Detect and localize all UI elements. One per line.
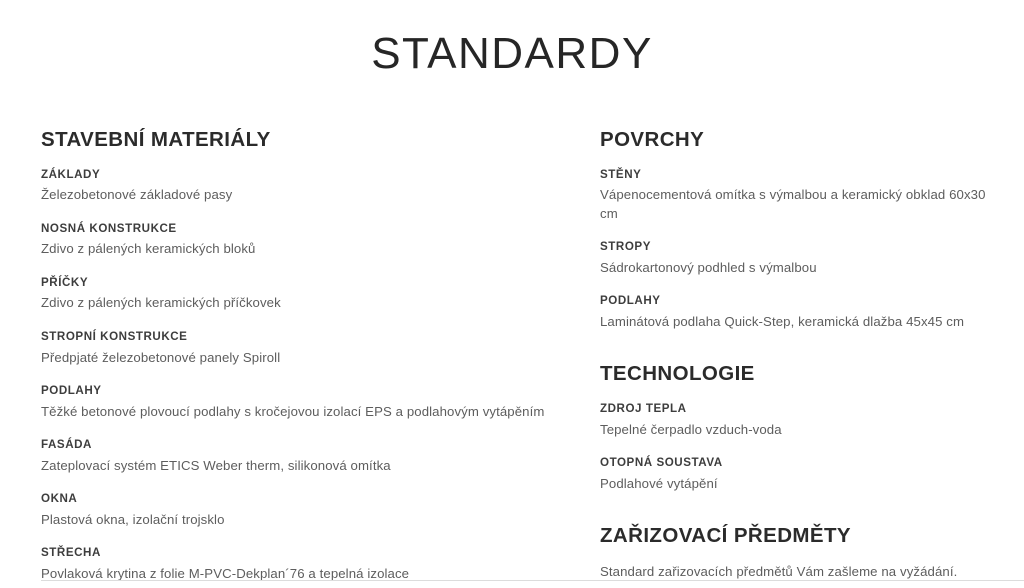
section-title: STAVEBNÍ MATERIÁLY	[41, 128, 546, 153]
entry-podlahy: PODLAHY Těžké betonové plovoucí podlahy …	[41, 383, 546, 421]
entry-text: Zdivo z pálených keramických příčkovek	[41, 294, 546, 312]
section-title: ZAŘIZOVACÍ PŘEDMĚTY	[600, 524, 1004, 549]
standards-page: STANDARDY STAVEBNÍ MATERIÁLY ZÁKLADY Žel…	[0, 0, 1024, 588]
right-column: POVRCHY STĚNY Vápenocementová omítka s v…	[556, 128, 1024, 581]
entry-text: Zateplovací systém ETICS Weber therm, si…	[41, 457, 546, 475]
section-technologie: TECHNOLOGIE ZDROJ TEPLA Tepelné čerpadlo…	[600, 362, 1004, 493]
entry-label: STROPNÍ KONSTRUKCE	[41, 329, 546, 345]
entry-strecha: STŘECHA Povlaková krytina z folie M-PVC-…	[41, 545, 546, 583]
entry-label: NOSNÁ KONSTRUKCE	[41, 221, 546, 237]
entry-stropni-konstrukce: STROPNÍ KONSTRUKCE Předpjaté železobeton…	[41, 329, 546, 367]
section-note: Standard zařizovacích předmětů Vám zašle…	[600, 563, 1004, 581]
section-zarizovaci-predmety: ZAŘIZOVACÍ PŘEDMĚTY Standard zařizovacíc…	[600, 524, 1004, 581]
entry-nosna-konstrukce: NOSNÁ KONSTRUKCE Zdivo z pálených kerami…	[41, 221, 546, 259]
entry-label: OKNA	[41, 491, 546, 507]
entry-label: FASÁDA	[41, 437, 546, 453]
left-column: STAVEBNÍ MATERIÁLY ZÁKLADY Železobetonov…	[0, 128, 556, 584]
entry-text: Vápenocementová omítka s výmalbou a kera…	[600, 186, 1004, 223]
entry-text: Těžké betonové plovoucí podlahy s kročej…	[41, 403, 546, 421]
bottom-divider	[41, 580, 1024, 581]
entry-okna: OKNA Plastová okna, izolační trojsklo	[41, 491, 546, 529]
section-stavebni-materialy: STAVEBNÍ MATERIÁLY ZÁKLADY Železobetonov…	[41, 128, 546, 584]
entry-text: Sádrokartonový podhled s výmalbou	[600, 259, 1004, 277]
entry-label: PŘÍČKY	[41, 275, 546, 291]
entry-zaklady: ZÁKLADY Železobetonové základové pasy	[41, 167, 546, 205]
entry-text: Železobetonové základové pasy	[41, 186, 546, 204]
entry-zdroj-tepla: ZDROJ TEPLA Tepelné čerpadlo vzduch-voda	[600, 401, 1004, 439]
entry-label: OTOPNÁ SOUSTAVA	[600, 455, 1004, 471]
entry-podlahy: PODLAHY Laminátová podlaha Quick-Step, k…	[600, 293, 1004, 331]
entry-label: STŘECHA	[41, 545, 546, 561]
content-columns: STAVEBNÍ MATERIÁLY ZÁKLADY Železobetonov…	[0, 128, 1024, 584]
entry-pricky: PŘÍČKY Zdivo z pálených keramických příč…	[41, 275, 546, 313]
entry-label: PODLAHY	[600, 293, 1004, 309]
entry-label: STĚNY	[600, 167, 1004, 183]
entry-label: ZÁKLADY	[41, 167, 546, 183]
entry-text: Zdivo z pálených keramických bloků	[41, 240, 546, 258]
entry-text: Podlahové vytápění	[600, 475, 1004, 493]
section-title: TECHNOLOGIE	[600, 362, 1004, 387]
entry-text: Laminátová podlaha Quick-Step, keramická…	[600, 313, 1004, 331]
entry-fasada: FASÁDA Zateplovací systém ETICS Weber th…	[41, 437, 546, 475]
entry-label: STROPY	[600, 239, 1004, 255]
entry-label: ZDROJ TEPLA	[600, 401, 1004, 417]
entry-text: Předpjaté železobetonové panely Spiroll	[41, 349, 546, 367]
entry-stropy: STROPY Sádrokartonový podhled s výmalbou	[600, 239, 1004, 277]
section-title: POVRCHY	[600, 128, 1004, 153]
entry-text: Tepelné čerpadlo vzduch-voda	[600, 421, 1004, 439]
entry-label: PODLAHY	[41, 383, 546, 399]
entry-text: Plastová okna, izolační trojsklo	[41, 511, 546, 529]
entry-otopna-soustava: OTOPNÁ SOUSTAVA Podlahové vytápění	[600, 455, 1004, 493]
section-povrchy: POVRCHY STĚNY Vápenocementová omítka s v…	[600, 128, 1004, 331]
page-title: STANDARDY	[0, 0, 1024, 81]
entry-steny: STĚNY Vápenocementová omítka s výmalbou …	[600, 167, 1004, 224]
